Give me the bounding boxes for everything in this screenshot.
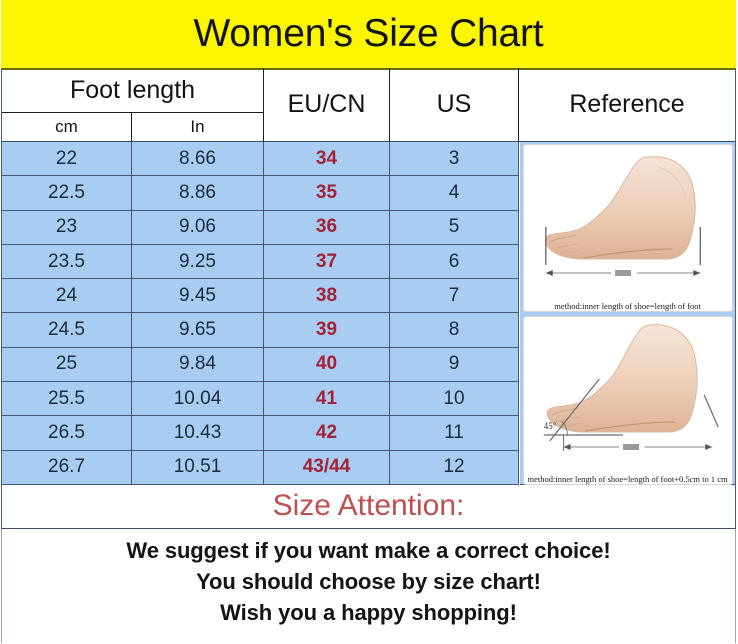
cell-us: 5: [390, 211, 519, 245]
cell-cm: 25: [2, 348, 132, 382]
cell-us: 8: [390, 313, 519, 347]
cell-us: 12: [390, 451, 519, 485]
cell-in: 10.51: [132, 451, 264, 485]
column-header-us: US: [390, 68, 519, 142]
attention-note-line: We suggest if you want make a correct ch…: [126, 535, 610, 566]
cell-in: 9.25: [132, 245, 264, 279]
cell-in: 10.04: [132, 382, 264, 416]
cell-us: 10: [390, 382, 519, 416]
cell-eu: 42: [264, 416, 390, 450]
foot-angle-measure-icon: 45°: [524, 317, 732, 463]
column-header-cm: cm: [2, 113, 132, 141]
cell-eu: 38: [264, 279, 390, 313]
cell-us: 3: [390, 142, 519, 176]
cell-eu: 34: [264, 142, 390, 176]
size-attention-heading: Size Attention:: [273, 491, 465, 521]
reference-diagram-bottom: 45° method:inner length of shoe=length o…: [523, 316, 733, 485]
column-header-foot-length: Foot length: [2, 68, 263, 113]
svg-text:45°: 45°: [543, 421, 556, 431]
cell-cm: 25.5: [2, 382, 132, 416]
cell-us: 7: [390, 279, 519, 313]
cell-eu: 41: [264, 382, 390, 416]
reference-column: method:inner length of shoe=length of fo…: [520, 142, 735, 485]
size-attention-row: Size Attention:: [1, 485, 736, 529]
cell-us: 6: [390, 245, 519, 279]
cell-eu: 37: [264, 245, 390, 279]
attention-note-line: Wish you a happy shopping!: [220, 597, 517, 628]
foot-side-view-icon: [524, 145, 732, 291]
size-chart-sheet: Women's Size Chart Foot length cm In EU/…: [0, 0, 738, 644]
column-header-in: In: [132, 113, 263, 141]
cell-in: 9.45: [132, 279, 264, 313]
cell-in: 8.86: [132, 176, 264, 210]
cell-us: 11: [390, 416, 519, 450]
cell-eu: 40: [264, 348, 390, 382]
table-body: 22 8.66 34 3 22.5 8.86 35 4 23 9.06 36 5: [2, 142, 735, 485]
chart-title-band: Women's Size Chart: [1, 0, 736, 70]
cell-us: 9: [390, 348, 519, 382]
table-row: 24 9.45 38 7: [2, 279, 520, 313]
table-row: 23 9.06 36 5: [2, 211, 520, 245]
cell-us: 4: [390, 176, 519, 210]
table-row: 25.5 10.04 41 10: [2, 382, 520, 416]
cell-eu: 35: [264, 176, 390, 210]
cell-in: 9.84: [132, 348, 264, 382]
column-header-eu-cn: EU/CN: [264, 68, 390, 142]
cell-in: 9.65: [132, 313, 264, 347]
cell-cm: 26.7: [2, 451, 132, 485]
cell-in: 10.43: [132, 416, 264, 450]
table-row: 23.5 9.25 37 6: [2, 245, 520, 279]
cell-cm: 23: [2, 211, 132, 245]
cell-cm: 22.5: [2, 176, 132, 210]
attention-note-line: You should choose by size chart!: [196, 566, 541, 597]
cell-cm: 24: [2, 279, 132, 313]
table-row: 22 8.66 34 3: [2, 142, 520, 176]
reference-caption-top: method:inner length of shoe=length of fo…: [524, 302, 732, 311]
table-header-row: Foot length cm In EU/CN US Reference: [2, 68, 735, 142]
table-row: 26.7 10.51 43/44 12: [2, 451, 520, 485]
table-row: 22.5 8.86 35 4: [2, 176, 520, 210]
cell-cm: 22: [2, 142, 132, 176]
table-row: 25 9.84 40 9: [2, 348, 520, 382]
foot-length-group: Foot length cm In: [2, 68, 264, 142]
cell-eu: 39: [264, 313, 390, 347]
table-row: 24.5 9.65 39 8: [2, 313, 520, 347]
cell-cm: 23.5: [2, 245, 132, 279]
column-header-reference: Reference: [519, 68, 735, 142]
reference-diagram-top: method:inner length of shoe=length of fo…: [523, 144, 733, 312]
cell-eu: 43/44: [264, 451, 390, 485]
size-table: Foot length cm In EU/CN US Reference 22 …: [1, 68, 736, 485]
attention-notes: We suggest if you want make a correct ch…: [1, 529, 736, 643]
foot-length-subheaders: cm In: [2, 113, 263, 141]
cell-in: 8.66: [132, 142, 264, 176]
cell-eu: 36: [264, 211, 390, 245]
table-body-values: 22 8.66 34 3 22.5 8.86 35 4 23 9.06 36 5: [2, 142, 520, 485]
table-row: 26.5 10.43 42 11: [2, 416, 520, 450]
cell-in: 9.06: [132, 211, 264, 245]
cell-cm: 24.5: [2, 313, 132, 347]
reference-caption-bottom: method:inner length of shoe=length of fo…: [524, 475, 732, 484]
cell-cm: 26.5: [2, 416, 132, 450]
page-title: Women's Size Chart: [194, 14, 544, 53]
